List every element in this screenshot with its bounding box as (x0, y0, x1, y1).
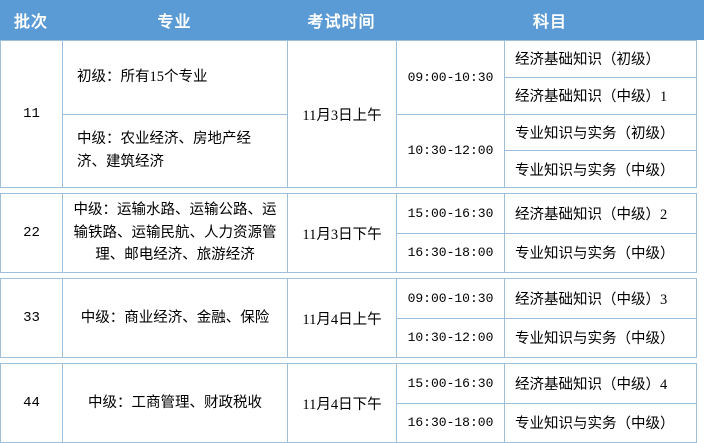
exam-daypart: 11月4日上午 (288, 279, 397, 357)
slot-time: 15:00-16:30 (397, 364, 505, 403)
time-slot-list: 15:00-16:30 经济基础知识（中级）2 16:30-18:00 专业知识… (397, 194, 696, 272)
subject-list: 经济基础知识（中级）2 (505, 194, 696, 233)
subject-cell: 经济基础知识（中级）2 (505, 194, 696, 233)
table-row: 11 初级：所有15个专业 中级：农业经济、房地产经济、建筑经济 11月3日上午… (0, 40, 697, 188)
subject-cell: 经济基础知识（中级）3 (505, 279, 696, 318)
subject-list: 专业知识与实务（中级） (505, 404, 696, 443)
time-slot: 15:00-16:30 经济基础知识（中级）4 (397, 364, 696, 403)
major-list: 中级：工商管理、财政税收 (63, 364, 288, 442)
batch-number: 11 (1, 41, 63, 187)
subject-list: 专业知识与实务（初级） 专业知识与实务（中级） (505, 115, 696, 188)
subject-cell: 专业知识与实务（中级） (505, 234, 696, 273)
time-slot: 16:30-18:00 专业知识与实务（中级） (397, 233, 696, 273)
table-row: 22 中级：运输水路、运输公路、运输铁路、运输民航、人力资源管理、邮电经济、旅游… (0, 193, 697, 273)
subject-cell: 专业知识与实务（中级） (505, 319, 696, 358)
major-cell: 中级：商业经济、金融、保险 (63, 279, 287, 357)
column-header-batch: 批次 (0, 0, 62, 40)
exam-schedule-table: 批次 专业 考试时间 科目 11 初级：所有15个专业 中级：农业经济、房地产经… (0, 0, 704, 441)
subject-cell: 专业知识与实务（初级） (505, 115, 696, 151)
time-slot: 16:30-18:00 专业知识与实务（中级） (397, 403, 696, 443)
table-body: 11 初级：所有15个专业 中级：农业经济、房地产经济、建筑经济 11月3日上午… (0, 40, 697, 443)
column-header-subject: 科目 (396, 0, 704, 40)
subject-list: 经济基础知识（中级）4 (505, 364, 696, 403)
subject-cell: 经济基础知识（中级）1 (505, 77, 696, 114)
major-list: 初级：所有15个专业 中级：农业经济、房地产经济、建筑经济 (63, 41, 288, 187)
column-header-major: 专业 (62, 0, 287, 40)
slot-time: 09:00-10:30 (397, 41, 505, 114)
time-slot: 10:30-12:00 专业知识与实务（中级） (397, 318, 696, 358)
table-row: 44 中级：工商管理、财政税收 11月4日下午 15:00-16:30 经济基础… (0, 363, 697, 443)
subject-list: 经济基础知识（初级） 经济基础知识（中级）1 (505, 41, 696, 114)
slot-time: 15:00-16:30 (397, 194, 505, 233)
time-slot-list: 09:00-10:30 经济基础知识（中级）3 10:30-12:00 专业知识… (397, 279, 696, 357)
exam-daypart: 11月3日上午 (288, 41, 397, 187)
column-header-time: 考试时间 (287, 0, 396, 40)
major-cell: 中级：农业经济、房地产经济、建筑经济 (63, 114, 287, 188)
time-slot: 09:00-10:30 经济基础知识（初级） 经济基础知识（中级）1 (397, 41, 696, 114)
major-cell: 中级：工商管理、财政税收 (63, 364, 287, 442)
slot-time: 16:30-18:00 (397, 234, 505, 273)
slot-time: 09:00-10:30 (397, 279, 505, 318)
exam-daypart: 11月3日下午 (288, 194, 397, 272)
major-list: 中级：运输水路、运输公路、运输铁路、运输民航、人力资源管理、邮电经济、旅游经济 (63, 194, 288, 272)
time-slot: 10:30-12:00 专业知识与实务（初级） 专业知识与实务（中级） (397, 114, 696, 188)
time-slot: 09:00-10:30 经济基础知识（中级）3 (397, 279, 696, 318)
subject-cell: 经济基础知识（初级） (505, 41, 696, 77)
table-header-row: 批次 专业 考试时间 科目 (0, 0, 704, 40)
batch-number: 44 (1, 364, 63, 442)
time-slot-list: 09:00-10:30 经济基础知识（初级） 经济基础知识（中级）1 10:30… (397, 41, 696, 187)
subject-cell: 专业知识与实务（中级） (505, 404, 696, 443)
major-cell: 初级：所有15个专业 (63, 41, 287, 114)
subject-cell: 专业知识与实务（中级） (505, 150, 696, 187)
slot-time: 16:30-18:00 (397, 404, 505, 443)
batch-number: 33 (1, 279, 63, 357)
table-row: 33 中级：商业经济、金融、保险 11月4日上午 09:00-10:30 经济基… (0, 278, 697, 358)
slot-time: 10:30-12:00 (397, 115, 505, 188)
slot-time: 10:30-12:00 (397, 319, 505, 358)
subject-list: 专业知识与实务（中级） (505, 319, 696, 358)
major-list: 中级：商业经济、金融、保险 (63, 279, 288, 357)
exam-daypart: 11月4日下午 (288, 364, 397, 442)
time-slot-list: 15:00-16:30 经济基础知识（中级）4 16:30-18:00 专业知识… (397, 364, 696, 442)
batch-number: 22 (1, 194, 63, 272)
major-cell: 中级：运输水路、运输公路、运输铁路、运输民航、人力资源管理、邮电经济、旅游经济 (63, 194, 287, 272)
time-slot: 15:00-16:30 经济基础知识（中级）2 (397, 194, 696, 233)
subject-list: 专业知识与实务（中级） (505, 234, 696, 273)
subject-list: 经济基础知识（中级）3 (505, 279, 696, 318)
subject-cell: 经济基础知识（中级）4 (505, 364, 696, 403)
